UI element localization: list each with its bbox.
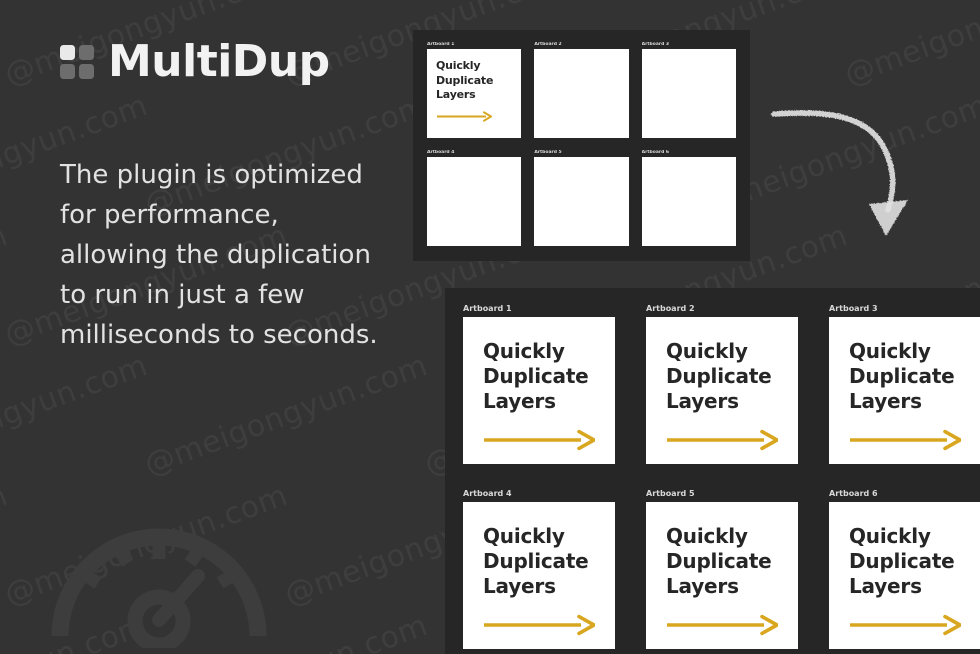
artboard-arrow-icon	[666, 614, 778, 636]
artboard-label: Artboard 6	[829, 489, 980, 498]
artboard-headline-line: Layers	[436, 88, 476, 101]
artboard-canvas-filled[interactable]: QuicklyDuplicateLayers	[463, 502, 615, 649]
artboard-card[interactable]: Artboard 3QuicklyDuplicateLayers	[829, 304, 980, 464]
small-artboard-grid: Artboard 1QuicklyDuplicateLayers Artboar…	[427, 42, 736, 246]
artboard-canvas-empty[interactable]	[642, 49, 736, 138]
artboard-headline-line: Quickly	[849, 524, 931, 548]
artboard-headline-line: Layers	[849, 389, 922, 413]
artboard-headline-line: Quickly	[666, 339, 748, 363]
artboard-canvas-empty[interactable]	[642, 157, 736, 246]
left-info-column: MultiDup The plugin is optimized for per…	[0, 0, 410, 654]
artboard-arrow-icon	[849, 429, 961, 451]
artboard-headline-line: Quickly	[436, 59, 480, 72]
artboard-card[interactable]: Artboard 3	[642, 42, 736, 138]
artboard-headline-line: Duplicate	[666, 549, 772, 573]
page-title: MultiDup	[108, 40, 330, 84]
artboard-canvas-empty[interactable]	[534, 157, 628, 246]
artboard-label: Artboard 2	[646, 304, 798, 313]
artboard-label: Artboard 3	[829, 304, 980, 313]
artboard-label: Artboard 1	[427, 42, 521, 47]
speedometer-icon	[48, 488, 270, 648]
artboard-headline: QuicklyDuplicateLayers	[849, 524, 961, 599]
artboard-headline-line: Quickly	[849, 339, 931, 363]
artboard-headline-line: Duplicate	[849, 364, 955, 388]
artboard-card[interactable]: Artboard 2QuicklyDuplicateLayers	[646, 304, 798, 464]
artboard-headline-line: Quickly	[666, 524, 748, 548]
artboard-arrow-icon	[849, 614, 961, 636]
artboard-label: Artboard 5	[646, 489, 798, 498]
artboard-card[interactable]: Artboard 2	[534, 42, 628, 138]
artboard-headline-line: Quickly	[483, 339, 565, 363]
artboard-arrow-icon	[436, 111, 512, 122]
artboard-card[interactable]: Artboard 4	[427, 150, 521, 246]
artboard-headline-line: Layers	[666, 574, 739, 598]
artboard-canvas-empty[interactable]	[534, 49, 628, 138]
artboard-card[interactable]: Artboard 1QuicklyDuplicateLayers	[427, 42, 521, 138]
artboard-arrow-icon	[483, 429, 595, 451]
artboard-canvas-filled[interactable]: QuicklyDuplicateLayers	[829, 317, 980, 464]
artboard-canvas-empty[interactable]	[427, 157, 521, 246]
artboard-arrow-icon	[666, 429, 778, 451]
artboard-canvas-filled[interactable]: QuicklyDuplicateLayers	[829, 502, 980, 649]
artboard-headline: QuicklyDuplicateLayers	[483, 524, 595, 599]
artboard-card[interactable]: Artboard 4QuicklyDuplicateLayers	[463, 489, 615, 649]
artboard-card[interactable]: Artboard 6QuicklyDuplicateLayers	[829, 489, 980, 649]
artboard-canvas-filled[interactable]: QuicklyDuplicateLayers	[427, 49, 521, 138]
grid-tile-1	[60, 45, 75, 60]
artboard-label: Artboard 6	[642, 150, 736, 155]
artboard-headline: QuicklyDuplicateLayers	[849, 339, 961, 414]
grid-2x2-icon	[60, 45, 94, 79]
grid-tile-4	[79, 64, 94, 79]
artboard-card[interactable]: Artboard 6	[642, 150, 736, 246]
artboard-label: Artboard 1	[463, 304, 615, 313]
large-artboard-panel: Artboard 1QuicklyDuplicateLayers Artboar…	[445, 288, 980, 654]
large-artboard-grid: Artboard 1QuicklyDuplicateLayers Artboar…	[463, 304, 962, 649]
artboard-headline-line: Layers	[483, 574, 556, 598]
curved-arrow-icon	[766, 64, 936, 244]
artboard-canvas-filled[interactable]: QuicklyDuplicateLayers	[646, 317, 798, 464]
artboard-card[interactable]: Artboard 1QuicklyDuplicateLayers	[463, 304, 615, 464]
artboard-card[interactable]: Artboard 5QuicklyDuplicateLayers	[646, 489, 798, 649]
small-artboard-panel: Artboard 1QuicklyDuplicateLayers Artboar…	[413, 30, 750, 261]
artboard-headline-line: Duplicate	[849, 549, 955, 573]
artboard-headline-line: Layers	[849, 574, 922, 598]
artboard-headline: QuicklyDuplicateLayers	[436, 59, 512, 103]
artboard-headline: QuicklyDuplicateLayers	[666, 339, 778, 414]
grid-tile-3	[60, 64, 75, 79]
artboard-headline-line: Layers	[666, 389, 739, 413]
artboard-label: Artboard 4	[427, 150, 521, 155]
brand-lockup: MultiDup	[60, 40, 330, 84]
artboard-headline: QuicklyDuplicateLayers	[666, 524, 778, 599]
artboard-headline-line: Layers	[483, 389, 556, 413]
artboard-label: Artboard 5	[534, 150, 628, 155]
artboard-headline-line: Duplicate	[483, 549, 589, 573]
artboard-headline-line: Duplicate	[666, 364, 772, 388]
artboard-arrow-icon	[483, 614, 595, 636]
artboard-headline-line: Quickly	[483, 524, 565, 548]
artboard-headline-line: Duplicate	[436, 74, 493, 87]
artboard-label: Artboard 2	[534, 42, 628, 47]
artboard-label: Artboard 4	[463, 489, 615, 498]
artboard-headline-line: Duplicate	[483, 364, 589, 388]
artboard-canvas-filled[interactable]: QuicklyDuplicateLayers	[646, 502, 798, 649]
artboard-headline: QuicklyDuplicateLayers	[483, 339, 595, 414]
grid-tile-2	[79, 45, 94, 60]
description-paragraph: The plugin is optimized for performance,…	[60, 155, 390, 355]
artboard-label: Artboard 3	[642, 42, 736, 47]
artboard-card[interactable]: Artboard 5	[534, 150, 628, 246]
artboard-canvas-filled[interactable]: QuicklyDuplicateLayers	[463, 317, 615, 464]
